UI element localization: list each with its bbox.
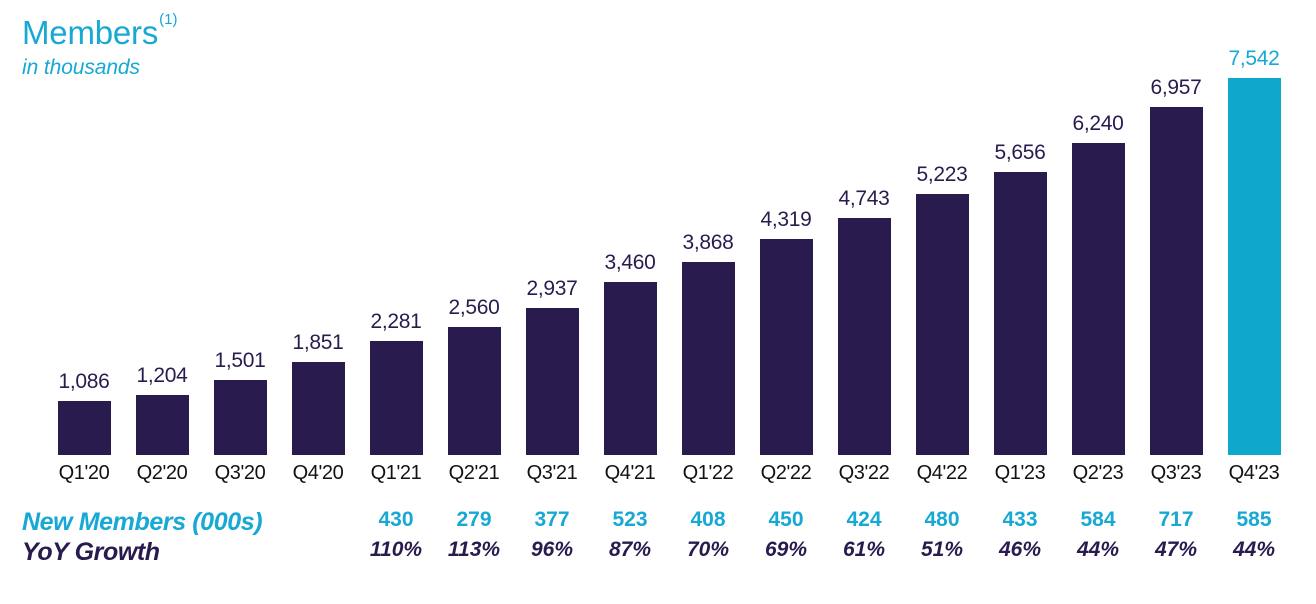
cell-new-members: 279 xyxy=(435,508,513,532)
bar[interactable] xyxy=(682,262,735,455)
bar[interactable] xyxy=(994,172,1047,455)
cell-yoy-growth: 44% xyxy=(1215,538,1293,562)
bar-value-label: 1,204 xyxy=(123,364,201,388)
x-axis-tick-label: Q1'20 xyxy=(45,462,123,485)
bar-value-label: 5,223 xyxy=(903,163,981,187)
x-axis-tick-label: Q2'23 xyxy=(1059,462,1137,485)
bar-value-label: 2,281 xyxy=(357,310,435,334)
row-label-new-members: New Members (000s) xyxy=(22,508,262,537)
x-axis-tick-label: Q4'20 xyxy=(279,462,357,485)
cell-new-members: 717 xyxy=(1137,508,1215,532)
cell-new-members: 585 xyxy=(1215,508,1293,532)
cell-new-members: 408 xyxy=(669,508,747,532)
bar-value-label: 3,460 xyxy=(591,251,669,275)
x-axis-tick-label: Q2'22 xyxy=(747,462,825,485)
row-label-yoy-growth: YoY Growth xyxy=(22,538,160,567)
bar[interactable] xyxy=(838,218,891,455)
bar[interactable] xyxy=(1150,107,1203,455)
table-row-new-members: New Members (000s) 430279377523408450424… xyxy=(0,508,1316,538)
cell-yoy-growth: 110% xyxy=(357,538,435,562)
bar-value-label: 1,086 xyxy=(45,370,123,394)
bar[interactable] xyxy=(760,239,813,455)
cell-yoy-growth: 46% xyxy=(981,538,1059,562)
bar-value-label: 4,319 xyxy=(747,208,825,232)
x-axis-tick-label: Q2'21 xyxy=(435,462,513,485)
bar[interactable] xyxy=(916,194,969,455)
bar[interactable] xyxy=(526,308,579,455)
cell-new-members: 377 xyxy=(513,508,591,532)
cell-new-members: 430 xyxy=(357,508,435,532)
bar[interactable] xyxy=(292,362,345,455)
cell-new-members: 584 xyxy=(1059,508,1137,532)
bar-value-label: 1,851 xyxy=(279,331,357,355)
x-axis-tick-label: Q4'21 xyxy=(591,462,669,485)
x-axis-tick-label: Q1'21 xyxy=(357,462,435,485)
cell-yoy-growth: 61% xyxy=(825,538,903,562)
bar-value-label: 1,501 xyxy=(201,349,279,373)
bar[interactable] xyxy=(604,282,657,455)
cell-new-members: 424 xyxy=(825,508,903,532)
bar-value-label: 2,560 xyxy=(435,296,513,320)
bar[interactable] xyxy=(136,395,189,455)
x-axis-tick-label: Q1'23 xyxy=(981,462,1059,485)
bar-value-label: 5,656 xyxy=(981,141,1059,165)
x-axis-tick-label: Q4'23 xyxy=(1215,462,1293,485)
bar[interactable] xyxy=(370,341,423,455)
cell-yoy-growth: 70% xyxy=(669,538,747,562)
cell-yoy-growth: 113% xyxy=(435,538,513,562)
x-axis-tick-label: Q3'23 xyxy=(1137,462,1215,485)
bar[interactable] xyxy=(1072,143,1125,455)
cell-yoy-growth: 51% xyxy=(903,538,981,562)
cell-yoy-growth: 69% xyxy=(747,538,825,562)
bar[interactable] xyxy=(1228,78,1281,455)
bar[interactable] xyxy=(214,380,267,455)
bar[interactable] xyxy=(448,327,501,455)
x-axis-tick-label: Q3'20 xyxy=(201,462,279,485)
table-row-yoy-growth: YoY Growth 110%113%96%87%70%69%61%51%46%… xyxy=(0,538,1316,568)
cell-yoy-growth: 47% xyxy=(1137,538,1215,562)
cell-yoy-growth: 87% xyxy=(591,538,669,562)
cell-yoy-growth: 44% xyxy=(1059,538,1137,562)
footer-data-table: New Members (000s) 430279377523408450424… xyxy=(0,508,1316,568)
x-axis-tick-label: Q1'22 xyxy=(669,462,747,485)
bar-value-label: 6,957 xyxy=(1137,76,1215,100)
x-axis-tick-label: Q3'22 xyxy=(825,462,903,485)
cell-new-members: 523 xyxy=(591,508,669,532)
bar-value-label: 6,240 xyxy=(1059,112,1137,136)
x-axis-tick-label: Q4'22 xyxy=(903,462,981,485)
bar[interactable] xyxy=(58,401,111,455)
x-axis-tick-label: Q2'20 xyxy=(123,462,201,485)
x-axis-tick-label: Q3'21 xyxy=(513,462,591,485)
cell-new-members: 480 xyxy=(903,508,981,532)
cell-yoy-growth: 96% xyxy=(513,538,591,562)
bar-value-label: 2,937 xyxy=(513,277,591,301)
bar-value-label: 3,868 xyxy=(669,231,747,255)
bar-value-label: 4,743 xyxy=(825,187,903,211)
cell-new-members: 433 xyxy=(981,508,1059,532)
bar-value-label: 7,542 xyxy=(1215,47,1293,71)
cell-new-members: 450 xyxy=(747,508,825,532)
